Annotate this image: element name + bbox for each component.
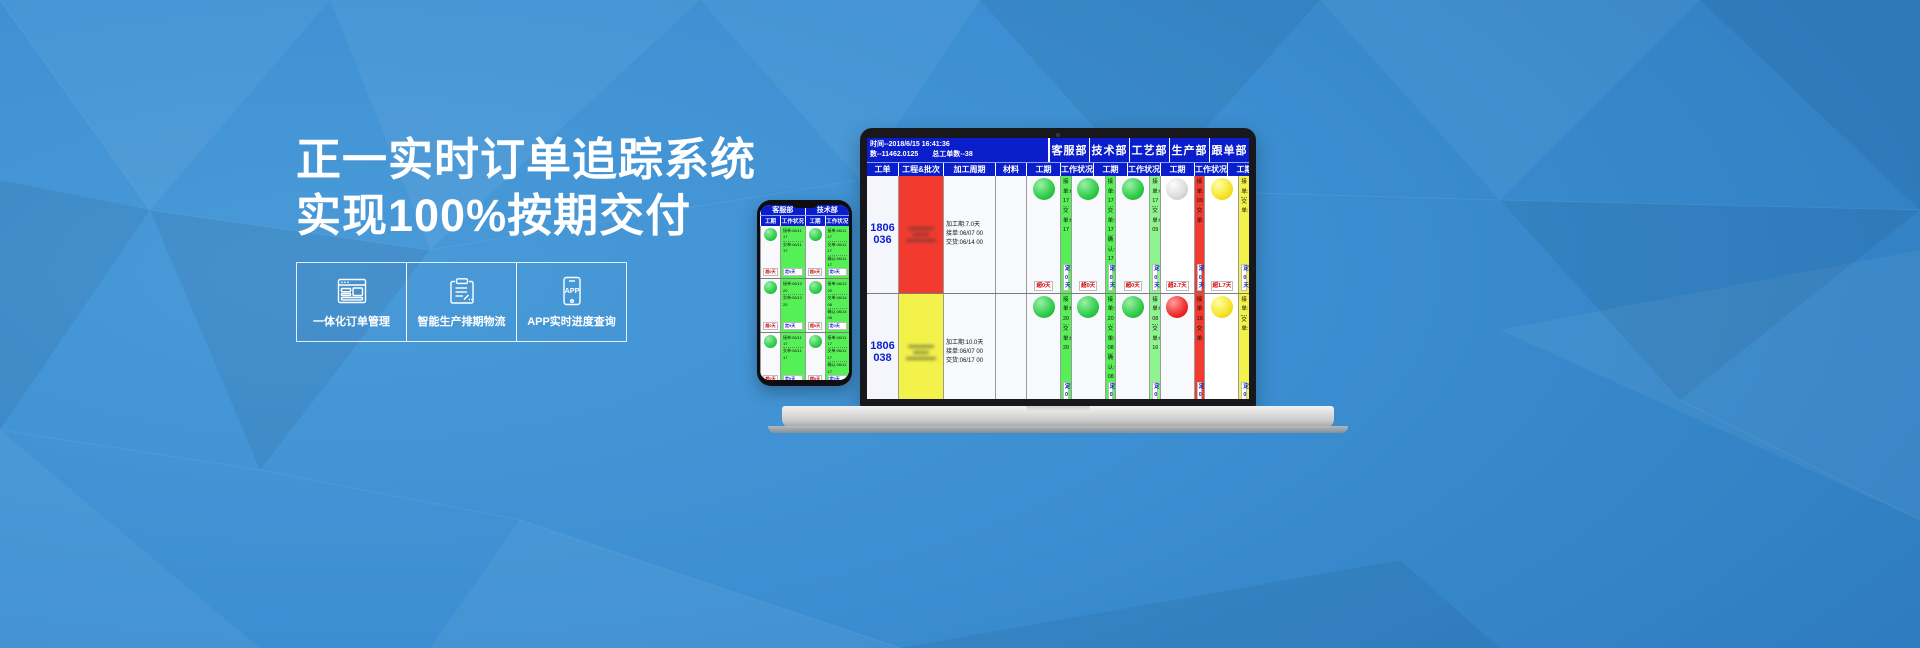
status-line: 交单:06/14 08 bbox=[828, 295, 848, 309]
project-batch-cell[interactable] bbox=[898, 176, 943, 293]
status-lamp-green[interactable] bbox=[764, 228, 777, 241]
overdue-badge: 超1.7天 bbox=[1211, 281, 1234, 291]
status-line: 接单:06/11 17 bbox=[783, 228, 803, 242]
dashboard-body: 超0天接单:06/11 17交单:06/11 17定0天超0天接单:06/11 … bbox=[760, 226, 849, 380]
department-header-4[interactable]: 跟单部 bbox=[1209, 138, 1249, 162]
work-status-cell[interactable]: 接单:06/12 20交单:06/12 20定0天 bbox=[780, 279, 805, 331]
status-line: 交单:06/11 17 bbox=[1108, 207, 1114, 236]
status-line: 接单:06/12 09 bbox=[1197, 178, 1203, 207]
dept-group: 超0天接单:06/12 20交单:06/14 08确认:06/14 08定0天 bbox=[1071, 294, 1116, 399]
dept-group: 超0天接单:06/11 17交单:06/11 17定0天 bbox=[760, 333, 805, 380]
status-line: 交单:06/11 17 bbox=[828, 348, 848, 362]
dept-group: 超2.7天接单:06/12 09交单:定0天 bbox=[1160, 176, 1205, 293]
work-status-cell[interactable]: 接单:06/14 08交单:06/15 16定0天 bbox=[1149, 294, 1160, 399]
dept-group: 超0天接单:06/12 20交单:06/12 20定0天 bbox=[760, 279, 805, 331]
planned-badge: 定0天 bbox=[1241, 382, 1247, 399]
status-line: 接单: bbox=[1241, 178, 1247, 198]
status-line: 接单:06/15 16 bbox=[1197, 296, 1203, 325]
planned-badge: 定0天 bbox=[1063, 264, 1069, 291]
term-cell: 超0天 bbox=[805, 279, 825, 331]
term-cell: 超0天 bbox=[1204, 294, 1238, 399]
overdue-badge: 超0天 bbox=[763, 322, 777, 330]
work-status-cell[interactable]: 接单:06/12 09交单:定0天 bbox=[1194, 176, 1205, 293]
work-status-cell[interactable]: 接单:06/11 17交单:06/11 17定0天 bbox=[1060, 176, 1071, 293]
webcam-icon bbox=[1056, 133, 1060, 137]
term-cell: 超2.7天 bbox=[1160, 176, 1194, 293]
phone-dashboard[interactable]: 客服部技术部工期工作状况工期工作状况超0天接单:06/11 17交单:06/11… bbox=[760, 205, 849, 380]
col-header-term-1: 工期 bbox=[805, 216, 825, 226]
department-header-1[interactable]: 技术部 bbox=[1089, 138, 1129, 162]
work-status-cell[interactable]: 接单:06/11 17交单:06/11 17确认:06/11 17定0天 bbox=[825, 333, 850, 380]
dept-group: 超1.7天接单:交单:定0天 bbox=[1204, 176, 1249, 293]
planned-badge: 定0天 bbox=[783, 322, 803, 330]
department-header-0[interactable]: 客服部 bbox=[1049, 138, 1089, 162]
planned-badge: 定0天 bbox=[828, 268, 848, 276]
col-header-term-1: 工期 bbox=[1093, 163, 1127, 176]
cycle-line: 交货:06/17 00 bbox=[946, 357, 993, 366]
status-lamp-green[interactable] bbox=[809, 335, 822, 348]
material-cell[interactable] bbox=[995, 176, 1026, 293]
work-status-cell[interactable]: 接单:06/11 17交单:06/11 17确认:06/11 17定0天 bbox=[825, 226, 850, 278]
dept-group: 超0天接单:06/12 20交单:06/14 08确认:06/14 08定0天 bbox=[805, 279, 850, 331]
overdue-badge: 超0天 bbox=[1124, 281, 1142, 291]
status-line: 交单: bbox=[1241, 316, 1247, 335]
status-line: 接单:06/12 20 bbox=[828, 281, 848, 295]
col-header-term-0: 工期 bbox=[1026, 163, 1060, 176]
work-status-cell[interactable]: 接单:06/12 20交单:06/12 20定0天 bbox=[1060, 294, 1071, 399]
dashboard-meta: 时间--2018/6/15 16:41:36数--11462.0125总工单数-… bbox=[867, 138, 1049, 162]
planned-badge: 定0天 bbox=[783, 375, 803, 380]
department-strip: 客服部技术部工艺部生产部跟单部 bbox=[1049, 138, 1249, 162]
status-lamp-green[interactable] bbox=[1077, 178, 1099, 200]
status-line: 确认:06/14 08 bbox=[1108, 354, 1114, 382]
status-lamp-green[interactable] bbox=[1122, 178, 1144, 200]
overdue-badge: 超2.7天 bbox=[1166, 281, 1189, 291]
dashboard-header: 客服部技术部 bbox=[760, 205, 849, 215]
status-line: 接单:06/11 17 bbox=[828, 228, 848, 242]
planned-badge: 定0天 bbox=[1063, 382, 1069, 399]
meta-row: 数--11462.0125总工单数--38 bbox=[870, 150, 1045, 160]
table-row[interactable]: 1806038加工期:10.0天接单:06/07 00交货:06/17 00超0… bbox=[867, 294, 1249, 399]
status-lamp-red[interactable] bbox=[1166, 296, 1188, 318]
status-lamp-green[interactable] bbox=[809, 281, 822, 294]
cycle-line: 接单:06/07 00 bbox=[946, 230, 993, 239]
term-cell: 超0天 bbox=[760, 333, 780, 380]
col-header-status-2: 工作状况 bbox=[1194, 163, 1227, 176]
status-lamp-green[interactable] bbox=[1033, 296, 1055, 318]
dept-group: 超0天接单:06/12 20交单:06/12 20定0天 bbox=[1026, 294, 1071, 399]
count-label: 数--11462.0125 bbox=[870, 150, 918, 160]
processing-cycle-cell: 加工期:7.0天接单:06/07 00交货:06/14 00 bbox=[943, 176, 995, 293]
term-cell: 超0天 bbox=[1071, 176, 1105, 293]
status-line: 确认:06/14 08 bbox=[828, 309, 848, 322]
dept-group: 超0天接单:06/11 17交单:06/11 17定0天 bbox=[1026, 176, 1071, 293]
status-lamp-green[interactable] bbox=[1033, 178, 1055, 200]
status-line: 交单:06/11 17 bbox=[1063, 207, 1069, 235]
col-header-term-3: 工期 bbox=[1227, 163, 1249, 176]
planned-badge: 定0天 bbox=[1241, 264, 1247, 291]
dept-group: 超0天接单:06/11 17交单:06/11 17定0天 bbox=[760, 226, 805, 278]
work-order-prefix: 1806 bbox=[870, 223, 894, 235]
overdue-badge: 超0天 bbox=[1079, 281, 1097, 291]
status-lamp-yellow[interactable] bbox=[1211, 296, 1233, 318]
phone-device: 客服部技术部工期工作状况工期工作状况超0天接单:06/11 17交单:06/11… bbox=[757, 200, 852, 386]
planned-badge: 定0天 bbox=[783, 268, 803, 276]
processing-cycle-cell: 加工期:10.0天接单:06/07 00交货:06/17 00 bbox=[943, 294, 995, 399]
status-line: 接单:06/14 08 bbox=[1152, 296, 1158, 325]
overdue-badge: 超0天 bbox=[808, 375, 822, 380]
term-cell: 超0天 bbox=[760, 279, 780, 331]
department-header-0[interactable]: 客服部 bbox=[760, 205, 805, 215]
planned-badge: 定0天 bbox=[828, 322, 848, 330]
planned-badge: 定0天 bbox=[828, 375, 848, 380]
status-line: 交单: bbox=[1197, 325, 1203, 344]
col-header-status-0: 工作状况 bbox=[780, 216, 805, 226]
laptop-notch bbox=[1026, 406, 1090, 412]
cycle-line: 交货:06/14 00 bbox=[946, 239, 993, 248]
overdue-badge: 超0天 bbox=[808, 268, 822, 276]
status-lamp-green[interactable] bbox=[1077, 296, 1099, 318]
col-header-status-1: 工作状况 bbox=[825, 216, 850, 226]
laptop-lid: 时间--2018/6/15 16:41:36数--11462.0125总工单数-… bbox=[860, 128, 1256, 408]
work-status-cell[interactable]: 接单:交单:定0天 bbox=[1238, 294, 1249, 399]
phone-screen[interactable]: 客服部技术部工期工作状况工期工作状况超0天接单:06/11 17交单:06/11… bbox=[760, 205, 849, 380]
planned-badge: 定0天 bbox=[1152, 264, 1158, 291]
planned-badge: 定0天 bbox=[1108, 264, 1114, 291]
work-status-cell[interactable]: 接单:06/11 17交单:06/11 17定0天 bbox=[780, 333, 805, 380]
project-redacted-content bbox=[901, 178, 941, 291]
project-redacted-content bbox=[901, 296, 941, 399]
term-cell: 超0天 bbox=[805, 333, 825, 380]
term-cell: 超0天 bbox=[805, 226, 825, 278]
status-lamp-yellow[interactable] bbox=[1211, 178, 1233, 200]
col-header-status-0: 工作状况 bbox=[1060, 163, 1093, 176]
dept-group: 超0天接单:06/11 17交单:06/11 17确认:06/11 17定0天 bbox=[805, 226, 850, 278]
status-line: 接单:06/12 20 bbox=[1108, 296, 1114, 325]
material-cell[interactable] bbox=[995, 294, 1026, 399]
status-line: 确认:06/11 17 bbox=[1108, 236, 1114, 264]
term-cell: 超0天 bbox=[1115, 176, 1149, 293]
term-cell: 超1.7天 bbox=[1204, 176, 1238, 293]
status-line: 交单: bbox=[1241, 198, 1247, 217]
table-row[interactable]: 1806036加工期:7.0天接单:06/07 00交货:06/14 00超0天… bbox=[867, 176, 1249, 294]
status-line: 交单:06/11 17 bbox=[828, 242, 848, 256]
status-lamp-grey[interactable] bbox=[1166, 178, 1188, 200]
department-strip: 客服部技术部 bbox=[760, 205, 849, 215]
status-line: 确认:06/11 17 bbox=[828, 362, 848, 375]
col-header-work-order: 工单 bbox=[867, 163, 898, 176]
dashboard-header: 时间--2018/6/15 16:41:36数--11462.0125总工单数-… bbox=[867, 138, 1249, 162]
table-row[interactable]: 超0天接单:06/11 17交单:06/11 17定0天超0天接单:06/11 … bbox=[760, 333, 849, 380]
work-status-cell[interactable]: 接单:06/15 16交单:定0天 bbox=[1194, 294, 1205, 399]
table-row[interactable]: 超0天接单:06/12 20交单:06/12 20定0天超0天接单:06/12 … bbox=[760, 279, 849, 332]
col-header-material: 材料 bbox=[995, 163, 1026, 176]
work-status-cell[interactable]: 接单:06/11 17交单:06/12 09定0天 bbox=[1149, 176, 1160, 293]
cycle-line: 加工期:7.0天 bbox=[946, 221, 993, 230]
status-line: 交单: bbox=[1197, 207, 1203, 226]
work-status-cell[interactable]: 接单:06/11 17交单:06/11 17确认:06/11 17定0天 bbox=[1105, 176, 1116, 293]
dashboard-column-headers: 工期工作状况工期工作状况 bbox=[760, 215, 849, 226]
col-header-project-batch: 工程&批次 bbox=[898, 163, 943, 176]
dept-group: 超0天接单:06/11 17交单:06/11 17确认:06/11 17定0天 bbox=[805, 333, 850, 380]
status-line: 接单:06/11 17 bbox=[1063, 178, 1069, 207]
work-order-suffix: 036 bbox=[873, 235, 891, 247]
status-line: 接单: bbox=[1241, 296, 1247, 316]
col-header-status-1: 工作状况 bbox=[1127, 163, 1160, 176]
col-header-cycle: 加工周期 bbox=[943, 163, 995, 176]
status-line: 交单:06/15 16 bbox=[1152, 325, 1158, 353]
work-status-cell[interactable]: 接单:06/11 17交单:06/11 17定0天 bbox=[780, 226, 805, 278]
dept-group: 超0天接单:06/11 17交单:06/12 09定0天 bbox=[1115, 176, 1160, 293]
work-status-cell[interactable]: 接单:06/12 20交单:06/14 08确认:06/14 08定0天 bbox=[825, 279, 850, 331]
work-status-cell[interactable]: 接单:交单:定0天 bbox=[1238, 176, 1249, 293]
term-cell: 超0天 bbox=[1026, 294, 1060, 399]
work-status-cell[interactable]: 接单:06/12 20交单:06/14 08确认:06/14 08定0天 bbox=[1105, 294, 1116, 399]
status-line: 交单:06/12 20 bbox=[783, 295, 803, 308]
col-header-term-0: 工期 bbox=[760, 216, 780, 226]
project-batch-cell[interactable] bbox=[898, 294, 943, 399]
status-line: 交单:06/11 17 bbox=[783, 242, 803, 255]
planned-badge: 定0天 bbox=[1197, 264, 1203, 291]
status-line: 接单:06/11 17 bbox=[783, 335, 803, 349]
term-cell: 超0天 bbox=[1026, 176, 1060, 293]
overdue-badge: 超0天 bbox=[1034, 281, 1052, 291]
dept-group: 超0天接单:06/15 16交单:定0天 bbox=[1160, 294, 1205, 399]
planned-badge: 定0天 bbox=[1152, 382, 1158, 399]
term-cell: 超0天 bbox=[1115, 294, 1149, 399]
dept-group: 超0天接单:06/11 17交单:06/11 17确认:06/11 17定0天 bbox=[1071, 176, 1116, 293]
laptop-foot bbox=[768, 426, 1348, 433]
total-orders-label: 总工单数--38 bbox=[932, 150, 972, 160]
status-line: 接单:06/11 17 bbox=[828, 335, 848, 349]
laptop-device: 时间--2018/6/15 16:41:36数--11462.0125总工单数-… bbox=[860, 128, 1256, 408]
work-order-suffix: 038 bbox=[873, 353, 891, 365]
overdue-badge: 超0天 bbox=[808, 322, 822, 330]
status-line: 接单:06/11 17 bbox=[1108, 178, 1114, 207]
laptop-screen[interactable]: 时间--2018/6/15 16:41:36数--11462.0125总工单数-… bbox=[867, 138, 1249, 399]
term-cell: 超0天 bbox=[1071, 294, 1105, 399]
cycle-line: 接单:06/07 00 bbox=[946, 348, 993, 357]
cycle-line: 加工期:10.0天 bbox=[946, 339, 993, 348]
status-lamp-green[interactable] bbox=[764, 281, 777, 294]
status-lamp-green[interactable] bbox=[764, 335, 777, 348]
work-order-cell[interactable]: 1806036 bbox=[867, 176, 898, 293]
status-line: 接单:06/11 17 bbox=[1152, 178, 1158, 207]
status-line: 交单:06/11 17 bbox=[783, 348, 803, 361]
work-order-prefix: 1806 bbox=[870, 341, 894, 353]
dashboard-body: 1806036加工期:7.0天接单:06/07 00交货:06/14 00超0天… bbox=[867, 176, 1249, 399]
status-line: 交单:06/14 08 bbox=[1108, 325, 1114, 354]
dept-group: 超0天接单:06/14 08交单:06/15 16定0天 bbox=[1115, 294, 1160, 399]
work-order-cell[interactable]: 1806038 bbox=[867, 294, 898, 399]
department-header-1[interactable]: 技术部 bbox=[805, 205, 850, 215]
department-header-2[interactable]: 工艺部 bbox=[1129, 138, 1169, 162]
status-lamp-green[interactable] bbox=[1122, 296, 1144, 318]
status-lamp-green[interactable] bbox=[809, 228, 822, 241]
planned-badge: 定0天 bbox=[1197, 382, 1203, 399]
department-header-3[interactable]: 生产部 bbox=[1169, 138, 1209, 162]
status-line: 交单:06/12 20 bbox=[1063, 325, 1069, 353]
term-cell: 超0天 bbox=[1160, 294, 1194, 399]
status-line: 接单:06/12 20 bbox=[783, 281, 803, 295]
planned-badge: 定0天 bbox=[1108, 382, 1114, 399]
status-line: 确认:06/11 17 bbox=[828, 256, 848, 269]
term-cell: 超0天 bbox=[760, 226, 780, 278]
status-line: 接单:06/12 20 bbox=[1063, 296, 1069, 325]
dashboard-column-headers: 工单工程&批次加工周期材料工期工作状况工期工作状况工期工作状况工期工作状况工期工… bbox=[867, 162, 1249, 176]
laptop-base bbox=[782, 406, 1334, 428]
status-line: 交单:06/12 09 bbox=[1152, 207, 1158, 235]
col-header-term-2: 工期 bbox=[1160, 163, 1194, 176]
overdue-badge: 超0天 bbox=[763, 375, 777, 380]
dept-group: 超0天接单:交单:定0天 bbox=[1204, 294, 1249, 399]
timestamp-label: 时间--2018/6/15 16:41:36 bbox=[870, 140, 1045, 150]
overdue-badge: 超0天 bbox=[763, 268, 777, 276]
table-row[interactable]: 超0天接单:06/11 17交单:06/11 17定0天超0天接单:06/11 … bbox=[760, 226, 849, 279]
order-tracking-dashboard[interactable]: 时间--2018/6/15 16:41:36数--11462.0125总工单数-… bbox=[867, 138, 1249, 399]
